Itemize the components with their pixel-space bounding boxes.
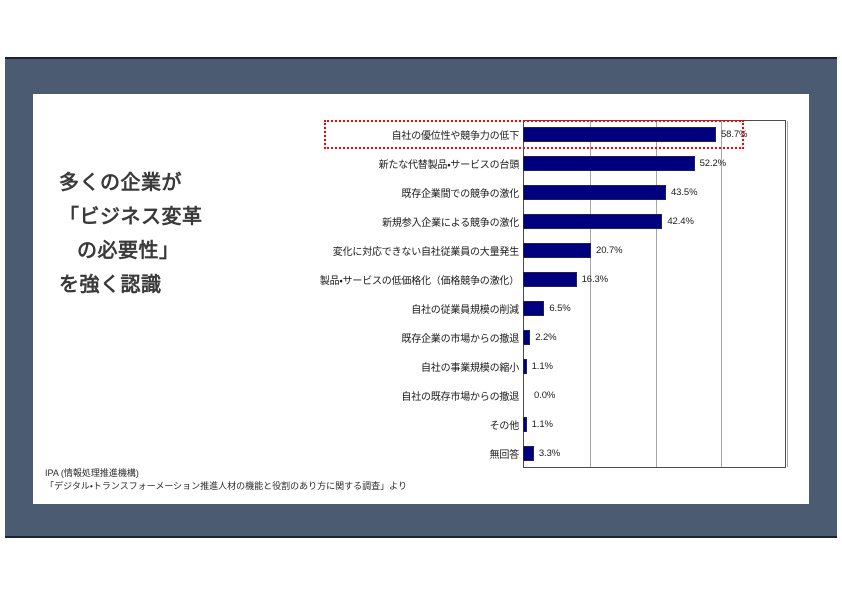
bar-zone: 1.1% — [523, 352, 786, 381]
bar-zone: 6.5% — [523, 294, 786, 323]
bar-zone: 52.2% — [523, 149, 786, 178]
category-label: 既存企業間での競争の激化 — [266, 185, 523, 200]
category-label: その他 — [266, 417, 523, 432]
chart-row: 自社の従業員規模の削減6.5% — [266, 294, 786, 323]
bar-zone: 20.7% — [523, 236, 786, 265]
bar-zone: 1.1% — [523, 410, 786, 439]
bar-zone: 43.5% — [523, 178, 786, 207]
bar-chart: 自社の優位性や競争力の低下58.7%新たな代替製品・サービスの台頭52.2%既存… — [266, 114, 786, 474]
category-label: 自社の優位性や競争力の低下 — [266, 127, 523, 142]
category-label: 自社の従業員規模の削減 — [266, 301, 523, 316]
bar-value-label: 1.1% — [527, 361, 553, 372]
category-label: 新規参入企業による競争の激化 — [266, 214, 523, 229]
bar-zone: 3.3% — [523, 439, 786, 468]
chart-row: 自社の優位性や競争力の低下58.7% — [266, 120, 786, 149]
chart-row: 既存企業間での競争の激化43.5% — [266, 178, 786, 207]
bar-zone: 58.7% — [523, 120, 786, 149]
chart-row: 新規参入企業による競争の激化42.4% — [266, 207, 786, 236]
bar-value-label: 20.7% — [591, 245, 622, 256]
chart-row: 無回答3.3% — [266, 439, 786, 468]
bar — [523, 185, 666, 200]
category-label: 既存企業の市場からの撤退 — [266, 330, 523, 345]
bar-zone: 2.2% — [523, 323, 786, 352]
chart-row: 自社の事業規模の縮小1.1% — [266, 352, 786, 381]
chart-row: 既存企業の市場からの撤退2.2% — [266, 323, 786, 352]
slide-frame: 多くの企業が 「ビジネス変革 の必要性」 を強く認識 IPA (情報処理推進機構… — [5, 57, 837, 538]
bar-value-label: 0.0% — [529, 390, 555, 401]
gridline-80 — [787, 121, 788, 467]
bar-value-label: 58.7% — [716, 129, 747, 140]
chart-row: 製品・サービスの低価格化（価格競争の激化）16.3% — [266, 265, 786, 294]
chart-row: 自社の既存市場からの撤退0.0% — [266, 381, 786, 410]
category-label: 自社の既存市場からの撤退 — [266, 388, 523, 403]
bar-value-label: 6.5% — [544, 303, 570, 314]
bar-zone: 42.4% — [523, 207, 786, 236]
category-label: 製品・サービスの低価格化（価格競争の激化） — [266, 272, 523, 287]
bar — [523, 156, 695, 171]
bar-value-label: 1.1% — [527, 419, 553, 430]
headline-text: 多くの企業が 「ビジネス変革 の必要性」 を強く認識 — [59, 166, 259, 302]
bar — [523, 214, 662, 229]
bar-value-label: 3.3% — [534, 448, 560, 459]
chart-row: 変化に対応できない自社従業員の大量発生20.7% — [266, 236, 786, 265]
bar — [523, 127, 716, 142]
chart-row: その他1.1% — [266, 410, 786, 439]
headline-line-4: を強く認識 — [59, 268, 259, 302]
headline-line-1: 多くの企業が — [59, 166, 259, 200]
bar — [523, 301, 544, 316]
slide-root: 多くの企業が 「ビジネス変革 の必要性」 を強く認識 IPA (情報処理推進機構… — [0, 0, 842, 595]
bar — [523, 330, 530, 345]
bar — [523, 243, 591, 258]
category-label: 変化に対応できない自社従業員の大量発生 — [266, 243, 523, 258]
category-label: 自社の事業規模の縮小 — [266, 359, 523, 374]
source-line-2: 「デジタル・トランスフォーメーション推進人材の機能と役割のあり方に関する調査」よ… — [45, 480, 407, 493]
bar-value-label: 42.4% — [662, 216, 693, 227]
bar-value-label: 52.2% — [695, 158, 726, 169]
category-label: 新たな代替製品・サービスの台頭 — [266, 156, 523, 171]
headline-line-3: の必要性」 — [59, 234, 259, 268]
bar — [523, 446, 534, 461]
headline-line-2: 「ビジネス変革 — [59, 200, 259, 234]
bar-value-label: 2.2% — [530, 332, 556, 343]
content-panel: 多くの企業が 「ビジネス変革 の必要性」 を強く認識 IPA (情報処理推進機構… — [33, 94, 809, 504]
bar-zone: 16.3% — [523, 265, 786, 294]
bar — [523, 272, 577, 287]
chart-row: 新たな代替製品・サービスの台頭52.2% — [266, 149, 786, 178]
bar-value-label: 43.5% — [666, 187, 697, 198]
bar-value-label: 16.3% — [577, 274, 608, 285]
chart-rows: 自社の優位性や競争力の低下58.7%新たな代替製品・サービスの台頭52.2%既存… — [266, 120, 786, 468]
bar-zone: 0.0% — [523, 381, 786, 410]
category-label: 無回答 — [266, 446, 523, 461]
